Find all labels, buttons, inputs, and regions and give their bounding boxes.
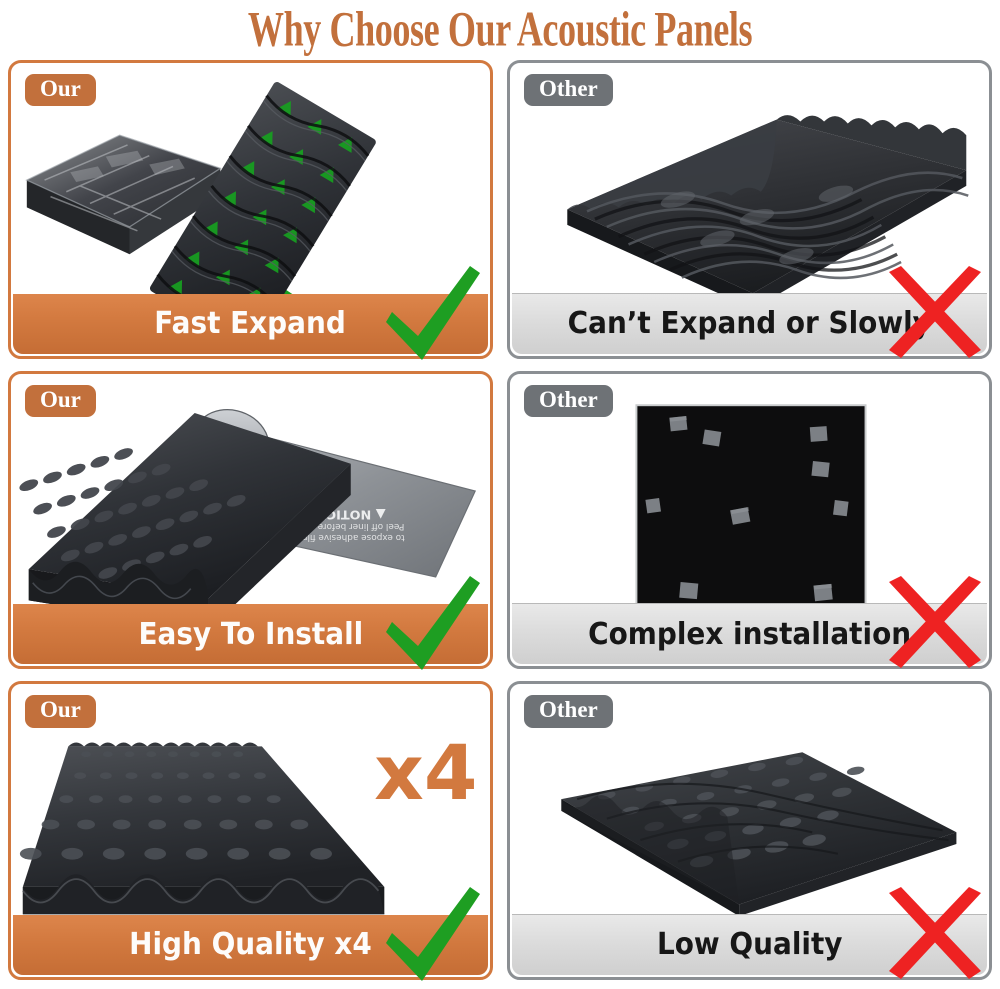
comparison-grid: Our Fast Expand: [8, 60, 992, 980]
card-other-complex-install: Other Complex installation: [507, 371, 992, 670]
label-bar-easy-install: Easy To Install: [13, 604, 488, 664]
badge-our: Our: [25, 385, 96, 417]
label-text: High Quality x4: [129, 927, 372, 962]
card-other-cant-expand: Other Can’t Expand or Slowly: [507, 60, 992, 359]
quantity-overlay-text: x4: [374, 730, 477, 818]
badge-our: Our: [25, 695, 96, 727]
badge-other: Other: [524, 385, 613, 417]
page-title: Why Choose Our Acoustic Panels: [70, 2, 930, 59]
label-bar-complex-install: Complex installation: [512, 603, 987, 664]
badge-other: Other: [524, 695, 613, 727]
label-bar-fast-expand: Fast Expand: [13, 294, 488, 354]
card-our-easy-install: ▲ NOTICE Peel off liner before use to ex…: [8, 371, 493, 670]
infographic-page: Why Choose Our Acoustic Panels: [0, 0, 1000, 987]
label-text: Complex installation: [588, 617, 911, 652]
svg-text:to expose adhesive film: to expose adhesive film: [299, 532, 405, 542]
badge-other: Other: [524, 74, 613, 106]
label-bar-cant-expand: Can’t Expand or Slowly: [512, 293, 987, 354]
card-other-low-quality: Other Low Quality: [507, 681, 992, 980]
label-bar-low-quality: Low Quality: [512, 914, 987, 975]
card-our-fast-expand: Our Fast Expand: [8, 60, 493, 359]
label-bar-high-quality: High Quality x4: [13, 915, 488, 975]
label-text: Low Quality: [657, 927, 842, 962]
badge-our: Our: [25, 74, 96, 106]
label-text: Easy To Install: [138, 617, 363, 652]
label-text: Can’t Expand or Slowly: [568, 306, 931, 341]
label-text: Fast Expand: [155, 306, 347, 341]
card-our-high-quality: x4 Our High Quality x4: [8, 681, 493, 980]
